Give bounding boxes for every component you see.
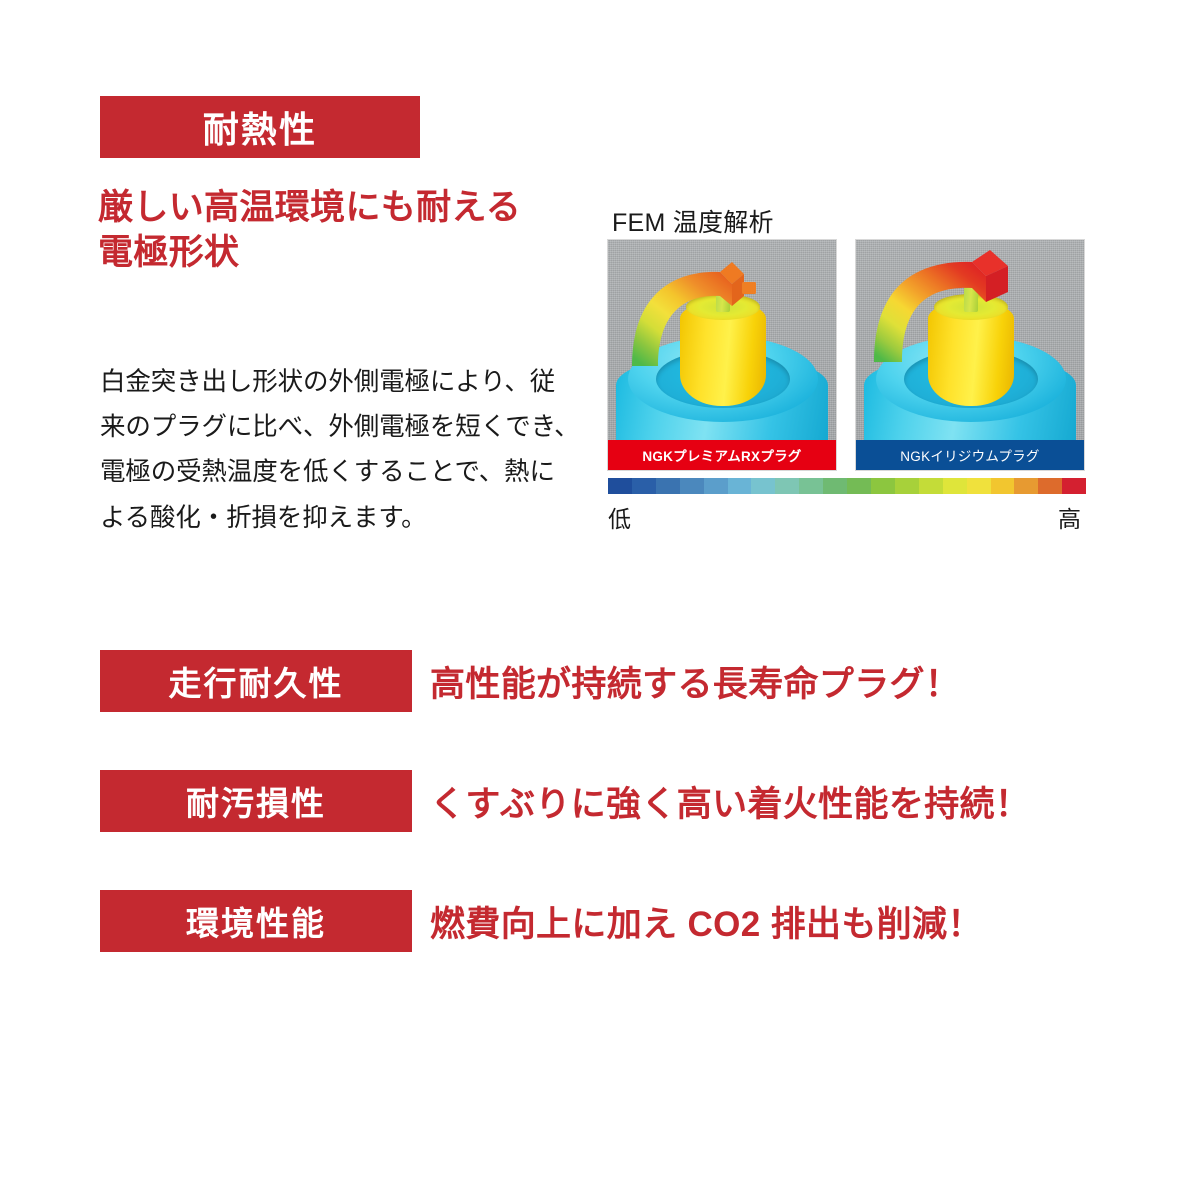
heat-resistance-headline: 厳しい高温環境にも耐える 電極形状 bbox=[98, 186, 598, 276]
fem-label-text: NGKプレミアムRXプラグ bbox=[642, 445, 801, 465]
feature-description: くすぶりに強く高い着火性能を持続！ bbox=[430, 770, 1030, 832]
temperature-scale-bar bbox=[608, 478, 1086, 494]
electrode-arm-long bbox=[874, 262, 986, 362]
heat-resistance-section: 耐熱性 厳しい高温環境にも耐える 電極形状 白金突き出し形状の外側電極により、従… bbox=[0, 0, 1200, 600]
scale-segment-19 bbox=[1062, 478, 1086, 494]
section-badge-heat-resistance: 耐熱性 bbox=[100, 96, 420, 158]
electrode-platinum-tip bbox=[742, 282, 756, 294]
fem-thermal-image-premium-rx: NGKプレミアムRXプラグ bbox=[608, 240, 836, 470]
feature-row: 耐汚損性 くすぶりに強く高い着火性能を持続！ bbox=[100, 770, 1060, 832]
feature-badge-driving-durability: 走行耐久性 bbox=[100, 650, 412, 712]
scale-segment-0 bbox=[608, 478, 632, 494]
scale-segment-5 bbox=[728, 478, 752, 494]
scale-segment-8 bbox=[799, 478, 823, 494]
feature-row: 環境性能 燃費向上に加え CO2 排出も削減！ bbox=[100, 890, 1060, 952]
scale-label-high: 高 bbox=[1058, 500, 1081, 534]
scale-segment-3 bbox=[680, 478, 704, 494]
scale-segment-18 bbox=[1038, 478, 1062, 494]
fem-image-label-premium-rx: NGKプレミアムRXプラグ bbox=[608, 440, 836, 470]
feature-badge-label: 走行耐久性 bbox=[169, 657, 344, 705]
scale-segment-1 bbox=[632, 478, 656, 494]
feature-badge-label: 耐汚損性 bbox=[186, 777, 326, 825]
scale-segment-16 bbox=[991, 478, 1015, 494]
scale-segment-6 bbox=[751, 478, 775, 494]
headline-line-2: 電極形状 bbox=[98, 231, 598, 276]
fem-analysis-caption: FEM 温度解析 bbox=[612, 203, 774, 239]
scale-segment-4 bbox=[704, 478, 728, 494]
fem-thermal-image-iridium: NGKイリジウムプラグ bbox=[856, 240, 1084, 470]
headline-line-1: 厳しい高温環境にも耐える bbox=[98, 186, 598, 231]
feature-badge-label: 環境性能 bbox=[186, 897, 326, 945]
section-badge-label: 耐熱性 bbox=[203, 101, 317, 153]
scale-segment-9 bbox=[823, 478, 847, 494]
scale-segment-12 bbox=[895, 478, 919, 494]
feature-description: 燃費向上に加え CO2 排出も削減！ bbox=[430, 890, 983, 952]
ground-electrode-thermal-plot-long bbox=[856, 240, 1084, 470]
feature-description: 高性能が持続する長寿命プラグ！ bbox=[430, 650, 960, 712]
ground-electrode-thermal-plot-short bbox=[608, 240, 836, 470]
fem-label-text: NGKイリジウムプラグ bbox=[900, 445, 1039, 465]
scale-segment-10 bbox=[847, 478, 871, 494]
scale-segment-15 bbox=[967, 478, 991, 494]
scale-label-low: 低 bbox=[608, 500, 631, 534]
heat-resistance-body-text: 白金突き出し形状の外側電極により、従来のプラグに比べ、外側電極を短くでき、電極の… bbox=[100, 360, 580, 542]
feature-badge-fouling-resistance: 耐汚損性 bbox=[100, 770, 412, 832]
scale-segment-14 bbox=[943, 478, 967, 494]
scale-segment-11 bbox=[871, 478, 895, 494]
feature-badge-environmental-performance: 環境性能 bbox=[100, 890, 412, 952]
scale-segment-2 bbox=[656, 478, 680, 494]
electrode-arm-short bbox=[632, 272, 732, 366]
feature-row: 走行耐久性 高性能が持続する長寿命プラグ！ bbox=[100, 650, 1060, 712]
scale-segment-13 bbox=[919, 478, 943, 494]
scale-segment-17 bbox=[1014, 478, 1038, 494]
scale-segment-7 bbox=[775, 478, 799, 494]
fem-image-label-iridium: NGKイリジウムプラグ bbox=[856, 440, 1084, 470]
